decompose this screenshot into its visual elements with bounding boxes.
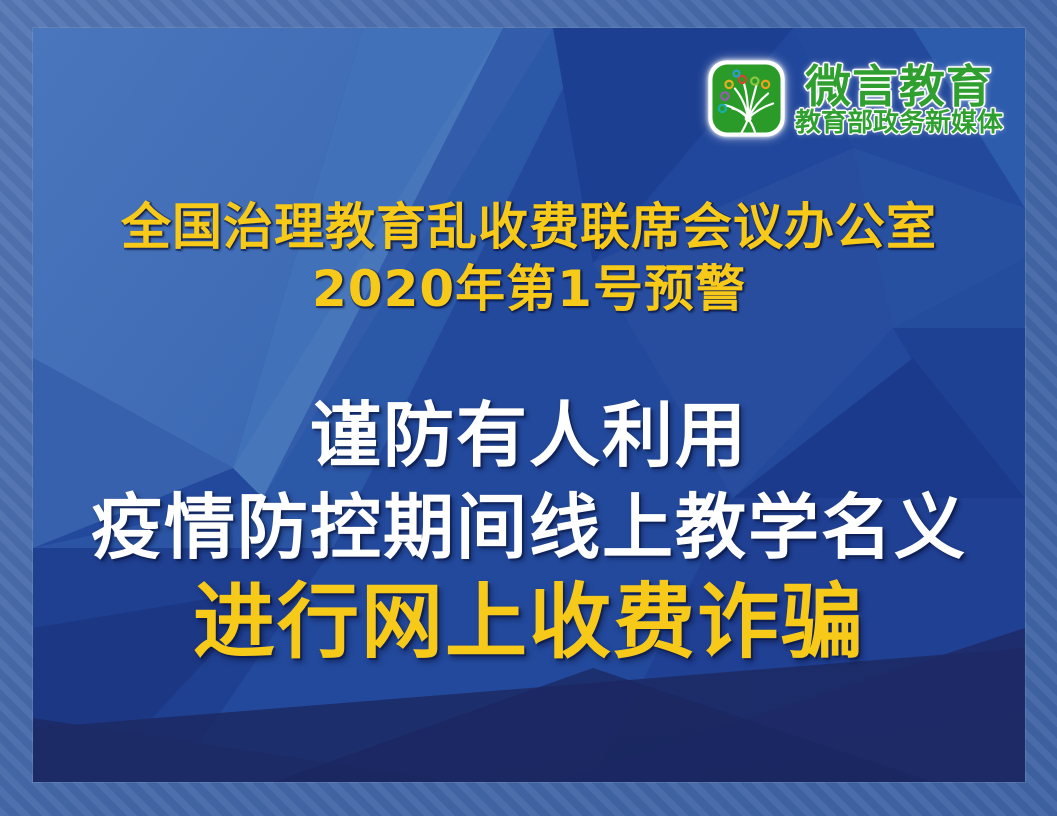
message-line-1: 谨防有人利用 bbox=[33, 390, 1025, 482]
poster-root: 微言教育 教育部政务新媒体 全国治理教育乱收费联席会议办公室 2020年第1号预… bbox=[0, 0, 1057, 816]
brand-logo: 微言教育 教育部政务新媒体 bbox=[705, 57, 1003, 140]
logo-subtitle-text: 教育部政务新媒体 bbox=[795, 110, 1003, 136]
logo-wordmark-text: 微言教育 bbox=[805, 64, 993, 109]
headline-line-2: 2020年第1号预警 bbox=[33, 258, 1025, 320]
message-block: 谨防有人利用 疫情防控期间线上教学名义 进行网上收费诈骗 bbox=[33, 390, 1025, 672]
logo-wordmark-block: 微言教育 教育部政务新媒体 bbox=[795, 61, 1003, 136]
headline-line-1: 全国治理教育乱收费联席会议办公室 bbox=[33, 196, 1025, 258]
headline-block: 全国治理教育乱收费联席会议办公室 2020年第1号预警 bbox=[33, 196, 1025, 320]
poster-panel: 微言教育 教育部政务新媒体 全国治理教育乱收费联席会议办公室 2020年第1号预… bbox=[33, 28, 1025, 782]
message-line-2: 疫情防控期间线上教学名义 bbox=[33, 482, 1025, 574]
panel-content: 微言教育 教育部政务新媒体 全国治理教育乱收费联席会议办公室 2020年第1号预… bbox=[33, 28, 1025, 782]
message-line-3: 进行网上收费诈骗 bbox=[33, 574, 1025, 672]
dandelion-seedhead-icon bbox=[705, 57, 788, 140]
